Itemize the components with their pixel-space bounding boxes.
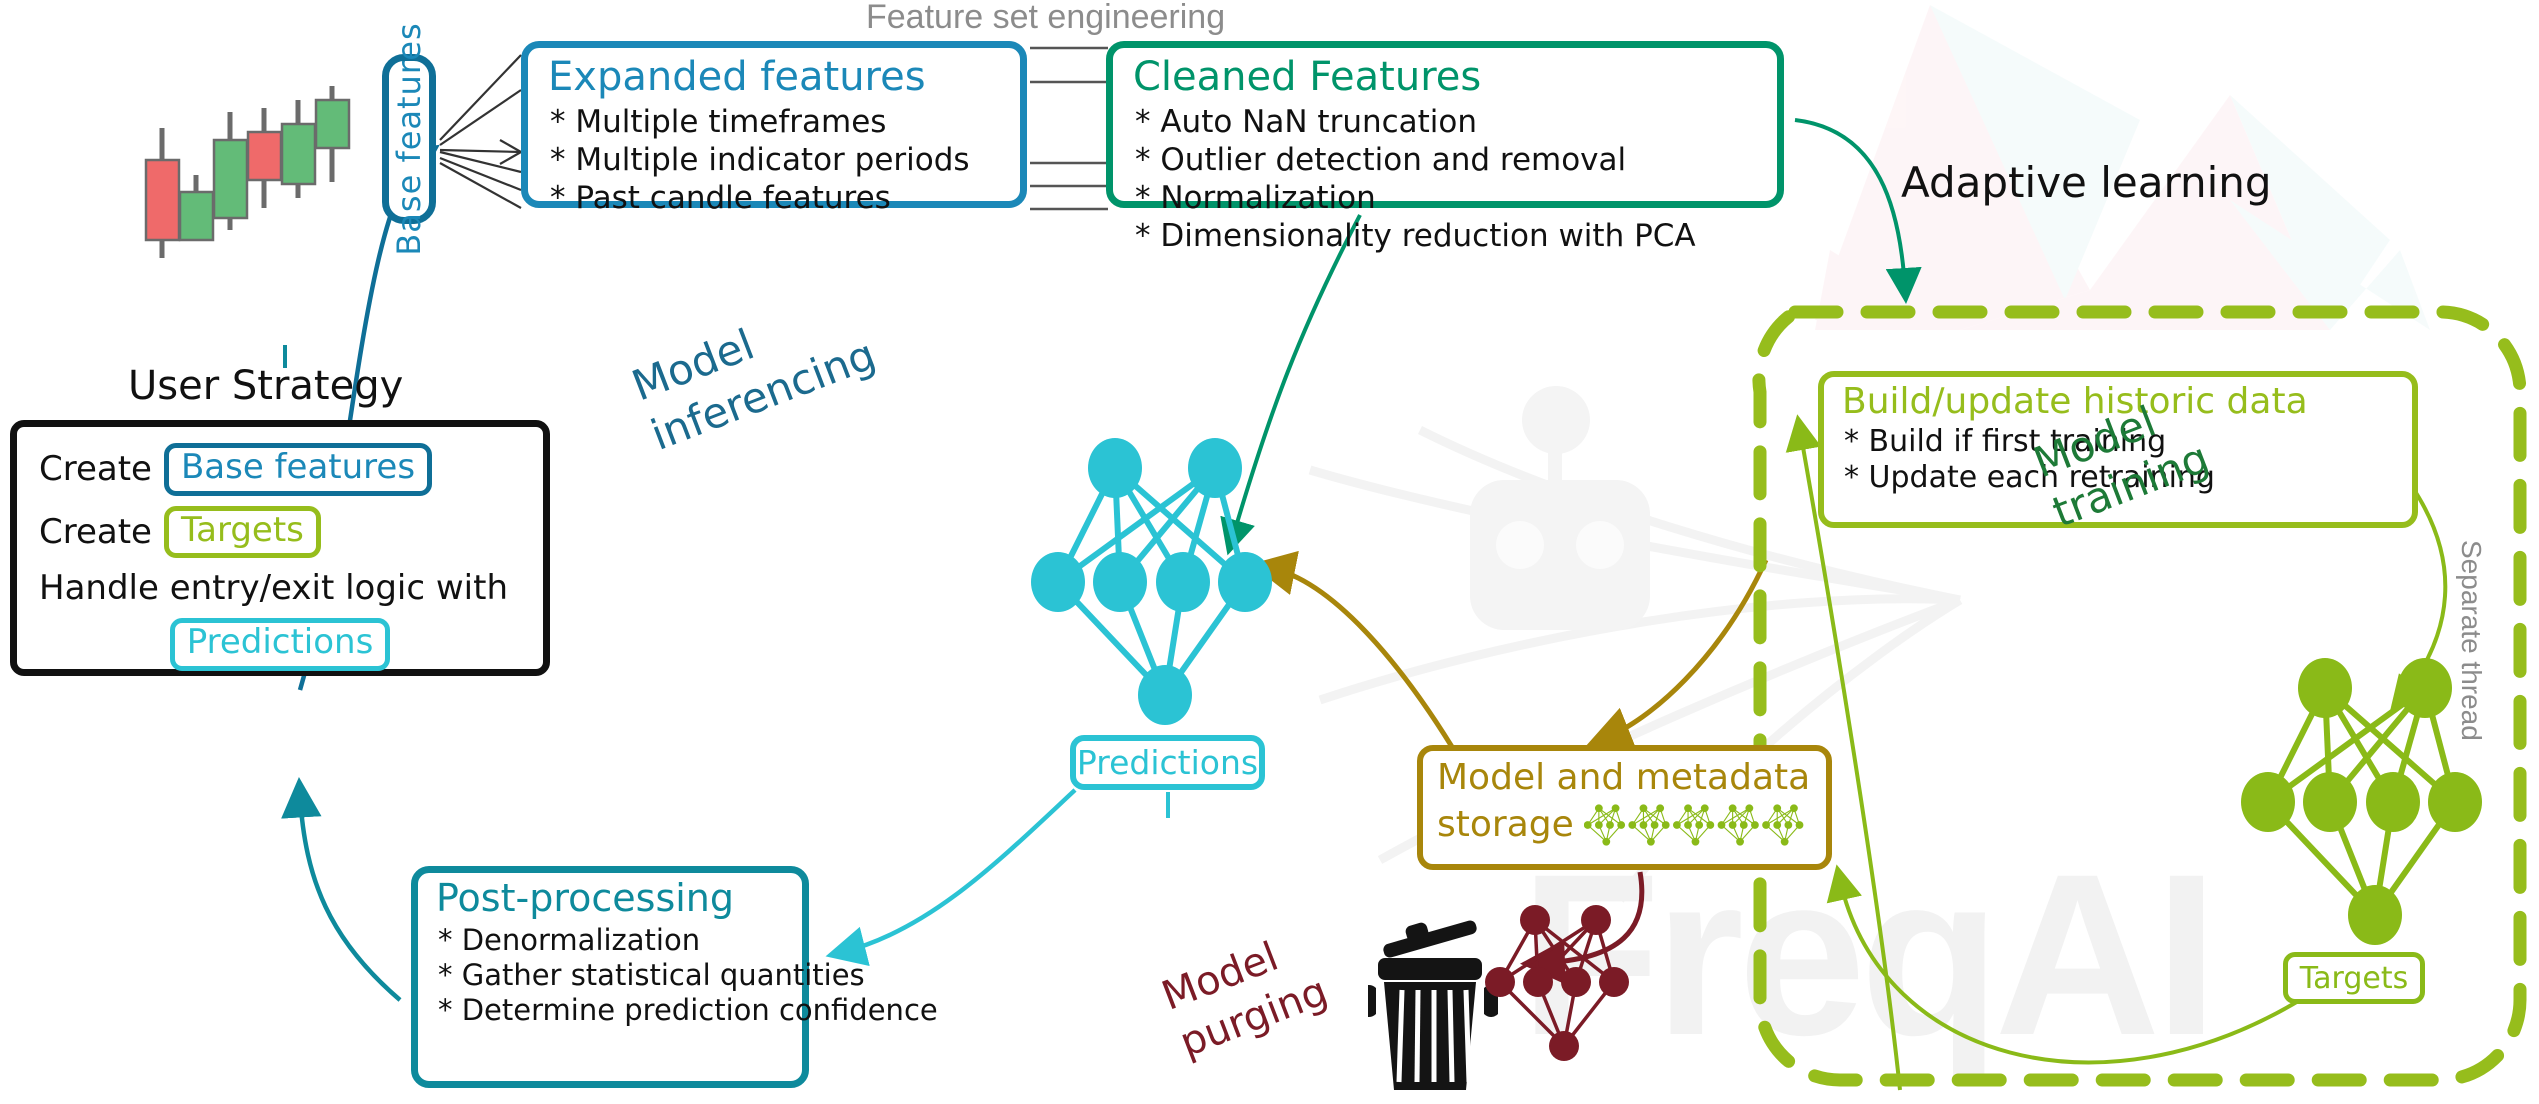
post-processing-list: * Denormalization * Gather statistical q…: [434, 923, 788, 1027]
list-item: * Dimensionality reduction with PCA: [1135, 218, 1761, 254]
post-processing-card[interactable]: Post-processing * Denormalization * Gath…: [411, 866, 809, 1088]
list-item: * Multiple timeframes: [550, 104, 1004, 140]
cleaned-features-title: Cleaned Features: [1133, 56, 1761, 98]
stored-models-icons: [1584, 799, 1816, 851]
user-strategy-card[interactable]: Create Base features Create Targets Hand…: [10, 420, 550, 676]
list-item: * Multiple indicator periods: [550, 142, 1004, 178]
model-storage-card[interactable]: Model and metadata storage: [1417, 745, 1832, 870]
base-features-chip[interactable]: Base features: [164, 443, 432, 496]
list-item: * Past candle features: [550, 180, 1004, 216]
list-item: * Denormalization: [438, 923, 788, 957]
expanded-features-card[interactable]: Expanded features * Multiple timeframes …: [521, 41, 1027, 208]
inference-neural-network: [1020, 430, 1310, 740]
training-neural-network: [2230, 650, 2520, 960]
user-strategy-row-1: Create Base features: [39, 443, 543, 496]
list-item: * Determine prediction confidence: [438, 993, 788, 1027]
model-inferencing-label: Model inferencing: [625, 279, 883, 462]
user-strategy-row-3: Handle entry/exit logic with: [39, 568, 543, 608]
list-item: * Outlier detection and removal: [1135, 142, 1761, 178]
targets-pill[interactable]: Targets: [2283, 952, 2425, 1004]
user-strategy-title: User Strategy: [128, 363, 403, 409]
predictions-pill[interactable]: Predictions: [1070, 735, 1265, 790]
adaptive-learning-label: Adaptive learning: [1901, 158, 2272, 207]
post-processing-title: Post-processing: [436, 879, 788, 919]
list-item: * Auto NaN truncation: [1135, 104, 1761, 140]
predictions-pill-label: Predictions: [1077, 743, 1258, 782]
candlestick-chart: [140, 70, 380, 300]
model-storage-line1: Model and metadata: [1437, 757, 1816, 799]
base-features-pill[interactable]: Base features: [382, 54, 436, 224]
user-strategy-row-4: Predictions: [17, 618, 543, 671]
feature-set-engineering-label: Feature set engineering: [866, 0, 1225, 37]
diagram-canvas: FreqAI: [0, 0, 2539, 1104]
expanded-features-title: Expanded features: [548, 56, 1004, 98]
model-storage-line2: storage: [1437, 804, 1574, 846]
purged-neural-network: [1480, 900, 1660, 1080]
trash-can-icon: [1368, 910, 1498, 1100]
expanded-features-list: * Multiple timeframes * Multiple indicat…: [546, 104, 1004, 216]
model-purging-label: Model purging: [1155, 920, 1334, 1068]
targets-chip[interactable]: Targets: [164, 506, 321, 559]
predictions-chip[interactable]: Predictions: [170, 618, 391, 671]
entry-exit-logic-label: Handle entry/exit logic with: [39, 568, 508, 608]
list-item: * Gather statistical quantities: [438, 958, 788, 992]
list-item: * Normalization: [1135, 180, 1761, 216]
base-features-label: Base features: [390, 22, 428, 255]
cleaned-features-card[interactable]: Cleaned Features * Auto NaN truncation *…: [1106, 41, 1784, 208]
create-label-2: Create: [39, 512, 152, 552]
targets-pill-label: Targets: [2300, 961, 2408, 996]
cleaned-features-list: * Auto NaN truncation * Outlier detectio…: [1131, 104, 1761, 254]
user-strategy-row-2: Create Targets: [39, 506, 543, 559]
create-label-1: Create: [39, 449, 152, 489]
